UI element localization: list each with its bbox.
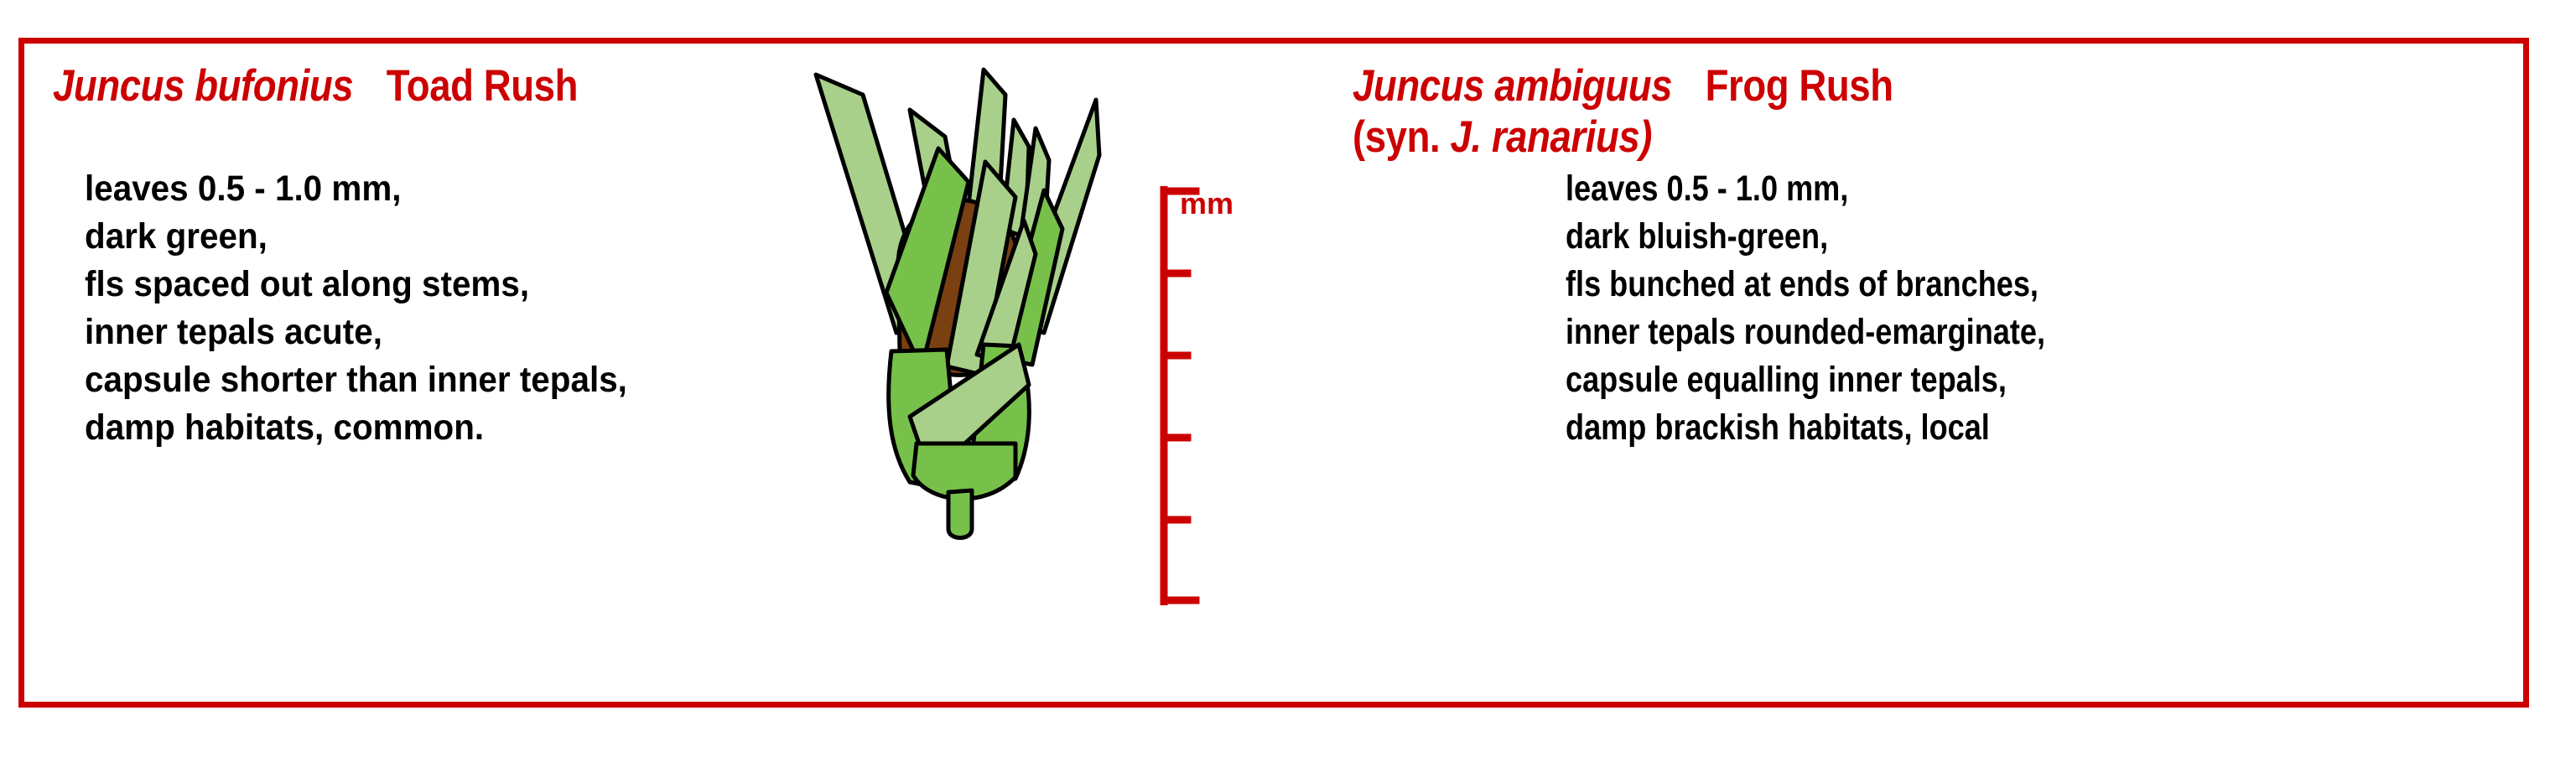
- species-panel-juncus-bufonius: Juncus bufoniusToad Rush leaves 0.5 - 1.…: [24, 44, 1299, 713]
- description-line: capsule shorter than inner tepals,: [85, 356, 627, 404]
- description-line: inner tepals acute,: [85, 309, 627, 356]
- description-block-right: leaves 0.5 - 1.0 mm, dark bluish-green, …: [1566, 165, 2045, 452]
- common-name-left: Toad Rush: [387, 61, 578, 111]
- comparison-sheet: Juncus bufoniusToad Rush leaves 0.5 - 1.…: [0, 0, 2576, 778]
- pedicel: [948, 490, 972, 538]
- description-block-left: leaves 0.5 - 1.0 mm, dark green, fls spa…: [85, 165, 627, 452]
- description-line: fls spaced out along stems,: [85, 261, 627, 309]
- red-border-frame: Juncus bufoniusToad Rush leaves 0.5 - 1.…: [18, 38, 2529, 708]
- description-line: leaves 0.5 - 1.0 mm,: [85, 165, 627, 213]
- description-line: inner tepals rounded-emarginate,: [1566, 309, 2045, 356]
- scientific-name-left: Juncus bufonius: [53, 61, 353, 111]
- species-panel-juncus-ambiguus: Juncus ambiguusFrog Rush (syn. J. ranari…: [1299, 44, 2535, 713]
- synonym-name: J. ranarius): [1450, 112, 1652, 162]
- scale-unit-label-left: mm: [1180, 186, 1233, 221]
- species-heading-right: Juncus ambiguusFrog Rush (syn. J. ranari…: [1353, 62, 1893, 162]
- scientific-name-right: Juncus ambiguus: [1353, 61, 1672, 111]
- species-heading-left: Juncus bufoniusToad Rush: [53, 62, 578, 111]
- description-line: fls bunched at ends of branches,: [1566, 261, 2045, 309]
- description-line: damp habitats, common.: [85, 404, 627, 452]
- description-line: dark bluish-green,: [1566, 213, 2045, 261]
- synonym-line: (syn. J. ranarius): [1353, 113, 1893, 162]
- description-line: dark green,: [85, 213, 627, 261]
- description-line: damp brackish habitats, local: [1566, 404, 2045, 452]
- synonym-prefix: (syn.: [1353, 112, 1440, 162]
- juncus-bufonius-illustration: [804, 56, 1106, 559]
- description-line: capsule equalling inner tepals,: [1566, 356, 2045, 404]
- common-name-right: Frog Rush: [1706, 61, 1893, 111]
- scale-bar-left: [1144, 186, 1244, 605]
- description-line: leaves 0.5 - 1.0 mm,: [1566, 165, 2045, 213]
